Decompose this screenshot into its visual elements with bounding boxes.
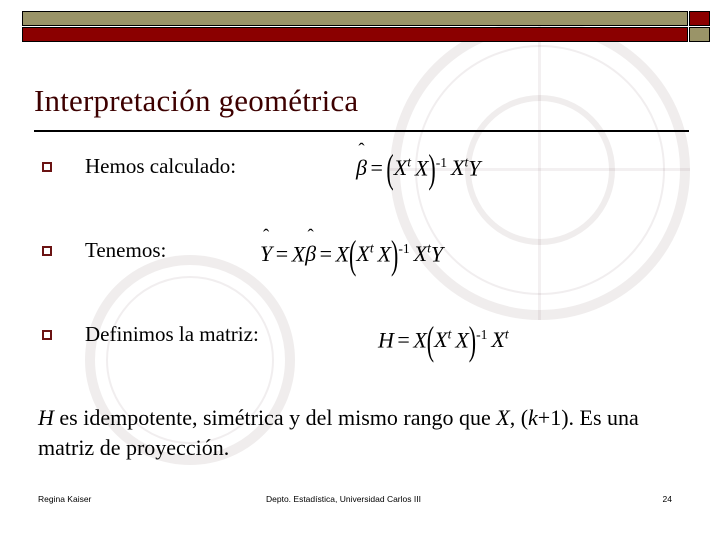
list-item-label: Definimos la matriz: bbox=[85, 320, 259, 348]
header-bar-lower-long-maroon bbox=[22, 27, 688, 42]
header-bar-upper bbox=[22, 11, 710, 26]
right-paren: ) bbox=[469, 313, 476, 369]
hollow-square-bullet-icon bbox=[42, 246, 52, 256]
equation-beta-hat: ˆβ=(XtX)-1XtY bbox=[356, 148, 481, 184]
equation-y-hat: ˆY=Xˆβ=X(XtX)-1XtY bbox=[260, 234, 443, 270]
paragraph-line2-middle: , ( bbox=[510, 405, 528, 430]
hat-accent-icon: ˆ bbox=[263, 228, 269, 247]
beta-hat-symbol: ˆβ bbox=[305, 239, 316, 269]
left-paren: ( bbox=[386, 141, 393, 197]
matrix-x-transpose: Xt bbox=[434, 327, 451, 352]
hollow-square-bullet-icon bbox=[42, 330, 52, 340]
right-paren: ) bbox=[391, 227, 398, 283]
page-title: Interpretación geométrica bbox=[34, 82, 684, 120]
paragraph-matrix-x: X bbox=[496, 405, 509, 430]
y-hat-symbol: ˆY bbox=[260, 239, 272, 269]
footer-affiliation: Depto. Estadística, Universidad Carlos I… bbox=[266, 494, 421, 504]
hat-accent-icon: ˆ bbox=[308, 228, 314, 247]
hollow-square-bullet-icon bbox=[42, 162, 52, 172]
matrix-x-transpose-2: Xt bbox=[451, 155, 468, 180]
matrix-x-transpose: Xt bbox=[394, 155, 411, 180]
matrix-x-2: X bbox=[455, 327, 468, 352]
equals-sign: = bbox=[272, 241, 291, 266]
list-item: Hemos calculado: ˆβ=(XtX)-1XtY bbox=[38, 148, 698, 232]
beta-hat-symbol: ˆβ bbox=[356, 153, 367, 183]
matrix-x-transpose: Xt bbox=[356, 241, 373, 266]
list-item-label: Hemos calculado: bbox=[85, 152, 236, 180]
vector-y: Y bbox=[468, 155, 480, 180]
title-underline-rule bbox=[34, 130, 689, 132]
paragraph-line2-prefix: que bbox=[459, 405, 496, 430]
list-item: Definimos la matriz: H=X(XtX)-1Xt bbox=[38, 316, 698, 400]
equals-sign: = bbox=[394, 327, 413, 352]
matrix-x: X bbox=[415, 155, 428, 180]
list-item-label: Tenemos: bbox=[85, 236, 166, 264]
matrix-x: X bbox=[292, 241, 305, 266]
paragraph-matrix-h: H bbox=[38, 405, 54, 430]
matrix-x-3: X bbox=[378, 241, 391, 266]
header-bar-upper-long-olive bbox=[22, 11, 688, 26]
equals-sign-2: = bbox=[316, 241, 335, 266]
slide-footer: Regina Kaiser Depto. Estadística, Univer… bbox=[38, 494, 686, 510]
paragraph-var-k: k bbox=[528, 405, 538, 430]
footer-author: Regina Kaiser bbox=[38, 494, 91, 504]
header-decoration-bars bbox=[22, 11, 710, 42]
bullet-list: Hemos calculado: ˆβ=(XtX)-1XtY Tenemos: … bbox=[38, 148, 698, 400]
right-paren: ) bbox=[428, 141, 435, 197]
header-bar-lower-square-olive bbox=[689, 27, 710, 42]
left-paren: ( bbox=[427, 313, 434, 369]
inverse-exponent: -1 bbox=[476, 327, 487, 342]
body-paragraph: H es idempotente, simétrica y del mismo … bbox=[38, 403, 678, 463]
matrix-x: X bbox=[413, 327, 426, 352]
list-item: Tenemos: ˆY=Xˆβ=X(XtX)-1XtY bbox=[38, 232, 698, 316]
equals-sign: = bbox=[367, 155, 386, 180]
inverse-exponent: -1 bbox=[436, 155, 447, 170]
vector-y: Y bbox=[431, 241, 443, 266]
left-paren: ( bbox=[349, 227, 356, 283]
matrix-x-transpose-2: Xt bbox=[414, 241, 431, 266]
matrix-h: H bbox=[378, 327, 394, 352]
matrix-x-transpose-2: Xt bbox=[491, 327, 508, 352]
paragraph-line1-text: es idempotente, simétrica y del mismo ra… bbox=[54, 405, 454, 430]
header-bar-lower bbox=[22, 27, 710, 42]
inverse-exponent: -1 bbox=[398, 241, 409, 256]
footer-page-number: 24 bbox=[663, 494, 672, 504]
matrix-x-2: X bbox=[336, 241, 349, 266]
equation-hat-matrix: H=X(XtX)-1Xt bbox=[378, 320, 509, 356]
header-bar-upper-square-maroon bbox=[689, 11, 710, 26]
hat-accent-icon: ˆ bbox=[358, 142, 364, 161]
